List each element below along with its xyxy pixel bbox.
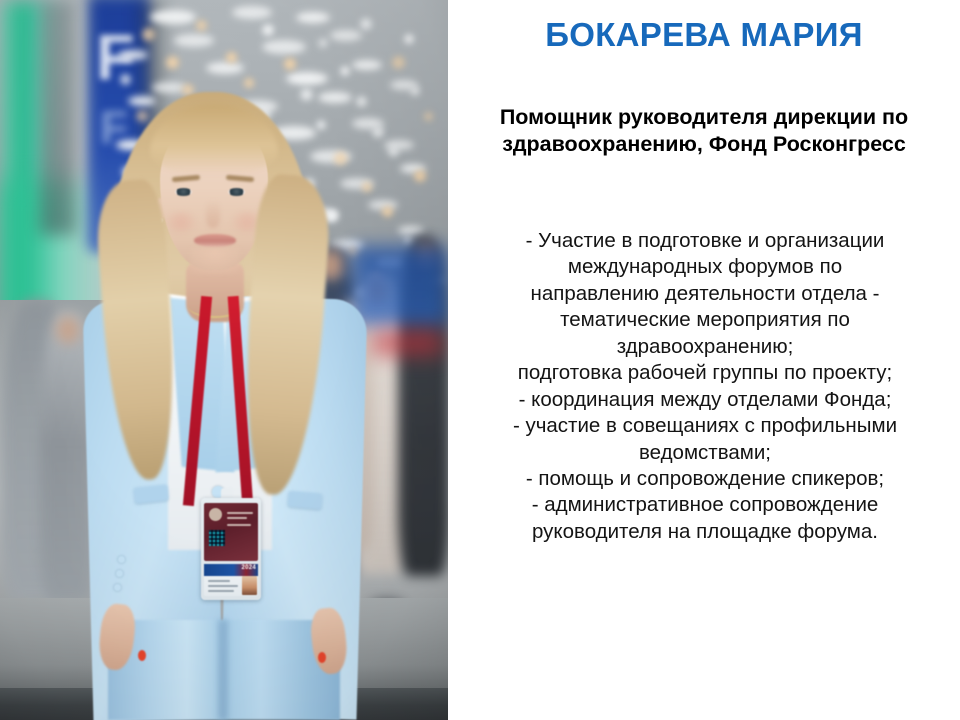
jacket-pocket-right: [287, 491, 322, 510]
badge-name-line-3: [208, 590, 234, 592]
job-title-line: Помощник руководителя дирекции: [500, 105, 876, 129]
duties-line: тематические мероприятия по: [462, 307, 948, 333]
duties-line: - Участие в подготовке и организации: [462, 228, 948, 254]
page-title: БОКАРЕВА МАРИЯ: [448, 16, 960, 54]
chin: [190, 248, 240, 274]
trouser-seam: [218, 620, 228, 720]
badge-qr-code: [209, 530, 225, 546]
cuff-button-1: [118, 556, 125, 563]
lips: [194, 234, 236, 247]
duties-line: здравоохранению;: [462, 334, 948, 360]
subject-figure: 2024: [0, 0, 448, 720]
duties-line: - участие в совещаниях с профильными: [462, 413, 948, 439]
badge-text-line-3: [227, 524, 251, 526]
slide-root: F F: [0, 0, 960, 720]
conference-badge: 2024: [201, 498, 261, 600]
cuff-button-3: [114, 584, 121, 591]
fingernail-right: [318, 652, 326, 663]
eye-right: [228, 188, 245, 196]
fingernail-left: [138, 650, 146, 661]
eye-left: [175, 188, 192, 196]
job-title-block: Помощник руководителя дирекции по здраво…: [470, 104, 938, 158]
cuff-button-2: [116, 570, 123, 577]
job-title-line: Фонд Росконгресс: [709, 132, 906, 156]
badge-name-line-2: [208, 585, 238, 587]
cheek-left: [166, 212, 196, 232]
duties-line: руководителя на площадке форума.: [462, 519, 948, 545]
duties-line: - административное сопровождение: [462, 492, 948, 518]
duties-line: - помощь и сопровождение спикеров;: [462, 466, 948, 492]
duties-line: ведомствами;: [462, 440, 948, 466]
duties-line: подготовка рабочей группы по проекту;: [462, 360, 948, 386]
badge-portrait-photo: [242, 576, 257, 595]
duties-line: - координация между отделами Фонда;: [462, 387, 948, 413]
badge-year-label: 2024: [241, 565, 256, 571]
duties-line: международных форумов по: [462, 254, 948, 280]
speaker-photo: F F: [0, 0, 448, 720]
nose: [206, 200, 220, 228]
duties-block: - Участие в подготовке и организации меж…: [462, 228, 948, 545]
badge-text-line-2: [227, 517, 247, 519]
badge-text-line-1: [227, 512, 253, 514]
badge-name-line-1: [208, 580, 230, 582]
info-panel: БОКАРЕВА МАРИЯ Помощник руководителя дир…: [448, 0, 960, 720]
duties-line: направлению деятельности отдела -: [462, 281, 948, 307]
badge-logo-icon: [209, 508, 222, 521]
